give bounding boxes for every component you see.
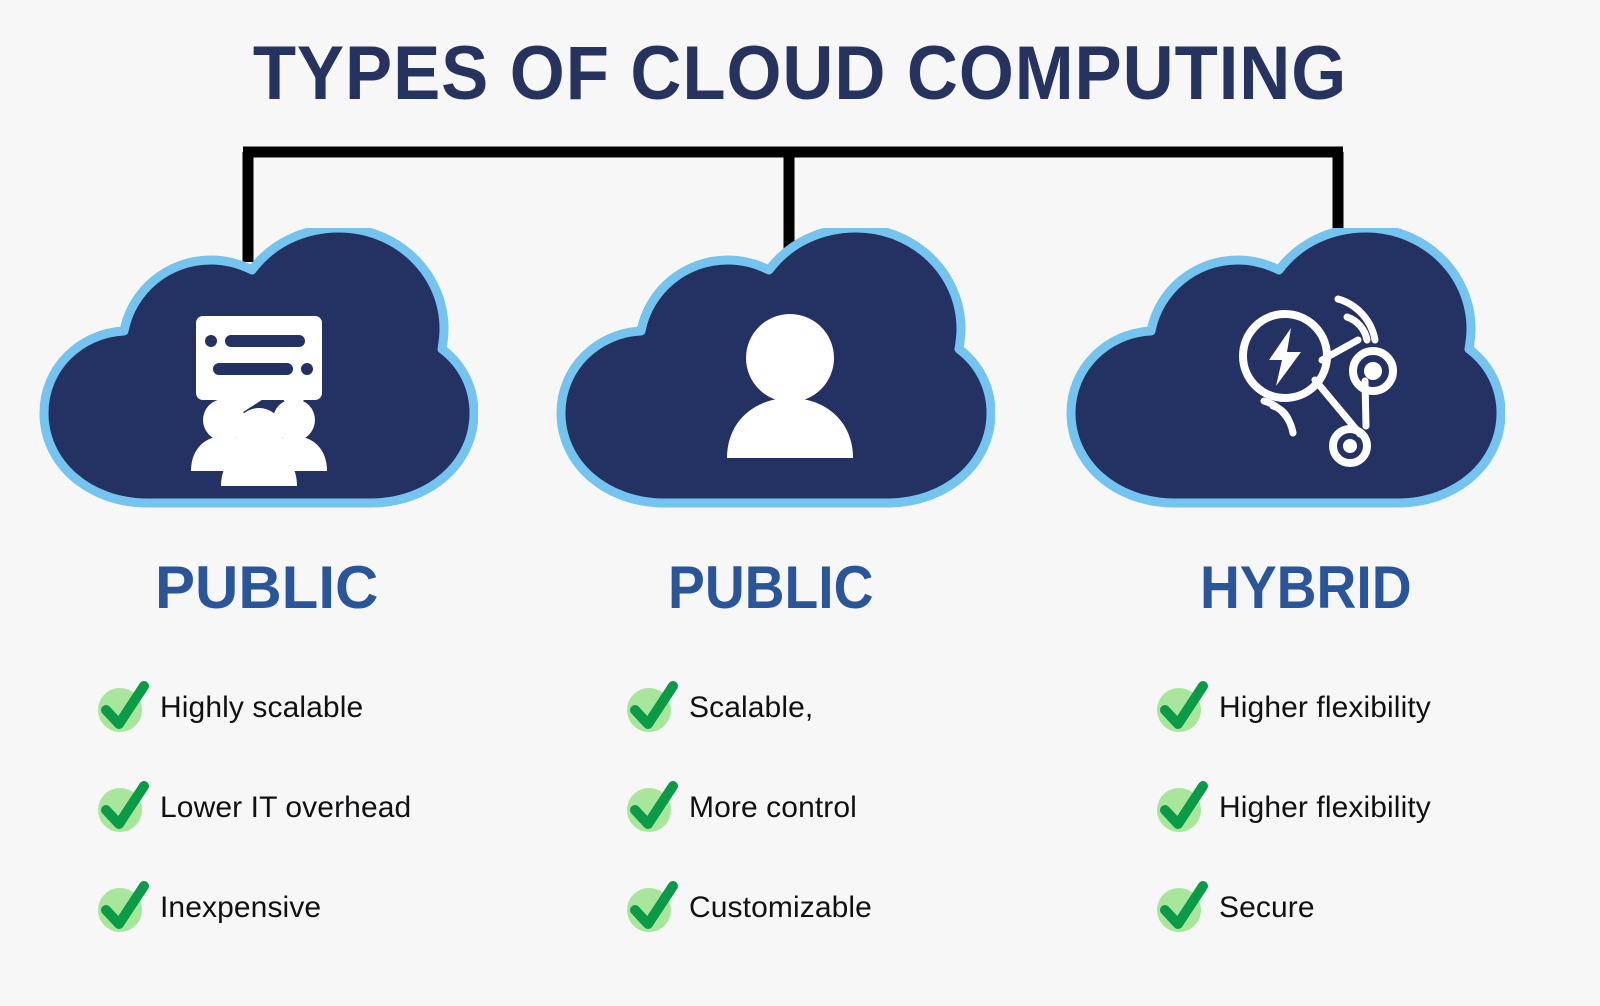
feature-columns: Highly scalable Lower IT overhead — [0, 658, 1600, 958]
feature-item: Higher flexibility — [1155, 658, 1600, 758]
feature-column-public-left: Highly scalable Lower IT overhead — [96, 658, 566, 958]
type-label-hybrid-right: HYBRID — [1200, 556, 1412, 619]
feature-item: Scalable, — [625, 658, 1095, 758]
feature-item: Highly scalable — [96, 658, 566, 758]
check-icon — [96, 682, 148, 734]
clouds-row — [0, 228, 1600, 528]
check-icon — [96, 782, 148, 834]
feature-item: More control — [625, 758, 1095, 858]
check-icon — [1155, 882, 1207, 934]
type-label-public-middle: PUBLIC — [668, 556, 873, 619]
cloud-card-public-middle[interactable] — [545, 228, 995, 518]
cloud-shape-hybrid-right — [1055, 228, 1505, 518]
feature-label: Higher flexibility — [1219, 791, 1431, 825]
cloud-shape-public-middle — [545, 228, 995, 518]
page-title: TYPES OF CLOUD COMPUTING — [56, 36, 1544, 112]
feature-item: Customizable — [625, 858, 1095, 958]
feature-label: Customizable — [689, 891, 872, 925]
cloud-computing-infographic: TYPES OF CLOUD COMPUTING — [0, 0, 1600, 1006]
check-icon — [1155, 782, 1207, 834]
feature-item: Secure — [1155, 858, 1600, 958]
feature-item: Inexpensive — [96, 858, 566, 958]
type-label-public-left: PUBLIC — [155, 556, 378, 619]
check-icon — [625, 782, 677, 834]
check-icon — [625, 882, 677, 934]
feature-label: Lower IT overhead — [160, 791, 411, 825]
check-icon — [625, 682, 677, 734]
cloud-card-hybrid-right[interactable] — [1055, 228, 1505, 518]
cloud-shape-public-left — [28, 228, 478, 518]
type-labels-row: PUBLIC PUBLIC HYBRID — [0, 556, 1600, 636]
feature-label: Highly scalable — [160, 691, 363, 725]
check-icon — [96, 882, 148, 934]
feature-label: Higher flexibility — [1219, 691, 1431, 725]
feature-label: More control — [689, 791, 857, 825]
feature-label: Inexpensive — [160, 891, 321, 925]
feature-item: Higher flexibility — [1155, 758, 1600, 858]
feature-item: Lower IT overhead — [96, 758, 566, 858]
check-icon — [1155, 682, 1207, 734]
feature-column-public-middle: Scalable, More control C — [625, 658, 1095, 958]
cloud-card-public-left[interactable] — [28, 228, 478, 518]
feature-label: Secure — [1219, 891, 1315, 925]
feature-column-hybrid-right: Higher flexibility Higher flexibility — [1155, 658, 1600, 958]
feature-label: Scalable, — [689, 691, 813, 725]
